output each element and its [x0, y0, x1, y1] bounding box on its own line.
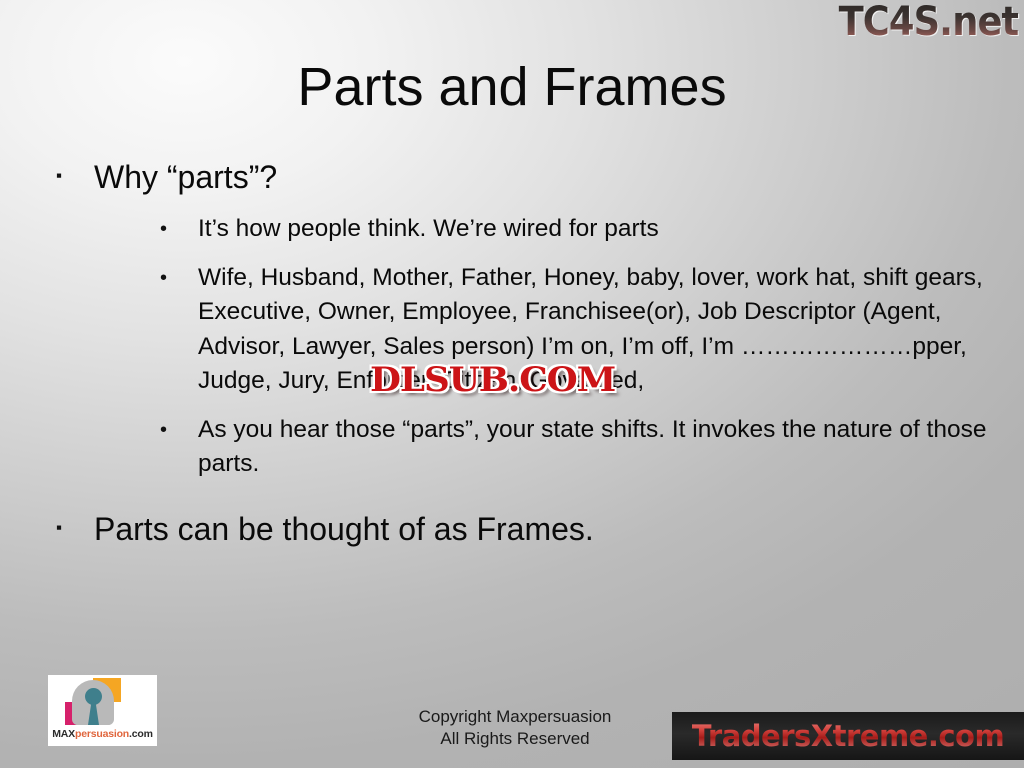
copyright-line-1: Copyright Maxpersuasion	[330, 706, 700, 728]
maxpersuasion-wordmark-max: MAX	[52, 728, 75, 740]
bullet-level1: ▪ Why “parts”?	[48, 156, 988, 198]
maxpersuasion-logo: MAXpersuasion.com	[48, 675, 157, 746]
round-bullet-icon: •	[48, 212, 198, 246]
bullet-level1-label: Parts can be thought of as Frames.	[94, 508, 594, 550]
copyright-notice: Copyright Maxpersuasion All Rights Reser…	[330, 706, 700, 750]
tradersxtreme-wordmark: TradersXtreme.comTradersXtreme.com	[692, 719, 1004, 753]
maxpersuasion-wordmark-com: .com	[129, 728, 153, 740]
maxpersuasion-wordmark-persuasion: persuasion	[75, 728, 129, 740]
maxpersuasion-wordmark: MAXpersuasion.com	[52, 728, 153, 740]
round-bullet-icon: •	[48, 413, 198, 447]
tradersxtreme-wordmark-outline: TradersXtreme.com	[692, 719, 1004, 753]
tradersxtreme-logo: TradersXtreme.comTradersXtreme.com	[672, 712, 1024, 760]
sub-bullet-list: • It’s how people think. We’re wired for…	[48, 212, 988, 482]
bullet-level2-label: It’s how people think. We’re wired for p…	[198, 212, 659, 247]
square-bullet-icon: ▪	[48, 156, 94, 196]
copyright-line-2: All Rights Reserved	[330, 728, 700, 750]
slide-title: Parts and Frames	[0, 56, 1024, 118]
bullet-level1-label: Why “parts”?	[94, 156, 277, 198]
bullet-level2: • It’s how people think. We’re wired for…	[48, 212, 988, 247]
presentation-slide: TC4S.net TC4S.net Parts and Frames ▪ Why…	[0, 0, 1024, 768]
dlsub-watermark: DLSUB.COM	[370, 360, 615, 400]
bullet-level2-label: As you hear those “parts”, your state sh…	[198, 413, 988, 482]
bullet-level1: ▪ Parts can be thought of as Frames.	[48, 508, 988, 550]
keyhole-head-icon	[65, 678, 121, 725]
round-bullet-icon: •	[48, 261, 198, 295]
square-bullet-icon: ▪	[48, 508, 94, 548]
tc4s-logo: TC4S.net	[838, 0, 1018, 44]
bullet-level2: • As you hear those “parts”, your state …	[48, 413, 988, 482]
